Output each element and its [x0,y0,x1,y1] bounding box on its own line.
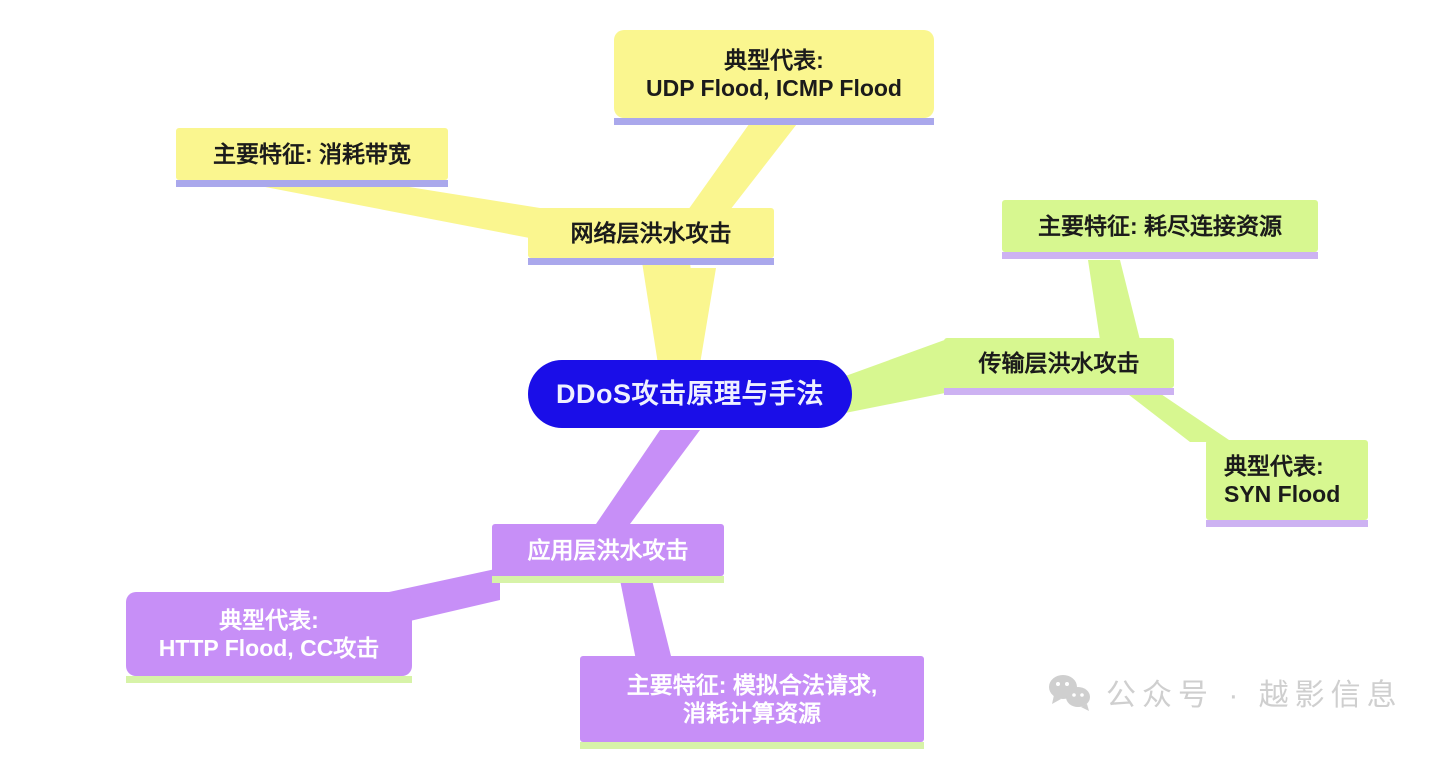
leaf-underline [580,742,924,749]
branch-application-layer-label: 应用层洪水攻击 [510,536,706,564]
leaf-underline [126,676,412,683]
branch-underline [944,388,1174,395]
leaf-transport-layer-feature[interactable]: 主要特征: 耗尽连接资源 [1002,200,1318,252]
leaf-transport-layer-examples-label: 典型代表: SYN Flood [1224,452,1350,508]
leaf-network-layer-examples-label: 典型代表: UDP Flood, ICMP Flood [630,46,918,102]
branch-network-layer[interactable]: 网络层洪水攻击 [528,208,774,258]
branch-transport-layer-label: 传输层洪水攻击 [962,349,1156,377]
branch-underline [492,576,724,583]
leaf-application-layer-examples[interactable]: 典型代表: HTTP Flood, CC攻击 [126,592,412,676]
branch-underline [528,258,774,265]
edge-application-layer-to-feature [620,580,672,660]
leaf-underline [1206,520,1368,527]
leaf-underline [614,118,934,125]
leaf-network-layer-feature-label: 主要特征: 消耗带宽 [194,140,430,168]
mindmap-canvas: DDoS攻击原理与手法 网络层洪水攻击 典型代表: UDP Flood, ICM… [0,0,1450,776]
branch-network-layer-label: 网络层洪水攻击 [546,219,756,247]
leaf-transport-layer-feature-label: 主要特征: 耗尽连接资源 [1020,212,1300,240]
branch-transport-layer[interactable]: 传输层洪水攻击 [944,338,1174,388]
leaf-underline [176,180,448,187]
leaf-network-layer-examples[interactable]: 典型代表: UDP Flood, ICMP Flood [614,30,934,118]
edge-root-to-transport-layer [840,338,950,414]
branch-application-layer[interactable]: 应用层洪水攻击 [492,524,724,576]
wechat-icon [1048,673,1092,711]
edge-transport-layer-to-feature [1088,260,1140,340]
watermark-text: 公众号 · 越影信息 [1106,670,1403,714]
root-node-label: DDoS攻击原理与手法 [556,378,824,411]
leaf-network-layer-feature[interactable]: 主要特征: 消耗带宽 [176,128,448,180]
edge-root-to-application-layer [596,430,700,524]
edge-network-layer-to-examples [688,120,800,210]
root-node[interactable]: DDoS攻击原理与手法 [528,360,852,428]
leaf-underline [1002,252,1318,259]
leaf-application-layer-examples-label: 典型代表: HTTP Flood, CC攻击 [142,606,396,662]
watermark: 公众号 · 越影信息 [1048,670,1403,714]
edge-transport-layer-to-examples [1120,388,1232,442]
leaf-transport-layer-examples[interactable]: 典型代表: SYN Flood [1206,440,1368,520]
leaf-application-layer-feature[interactable]: 主要特征: 模拟合法请求, 消耗计算资源 [580,656,924,742]
leaf-application-layer-feature-label: 主要特征: 模拟合法请求, 消耗计算资源 [596,671,908,727]
